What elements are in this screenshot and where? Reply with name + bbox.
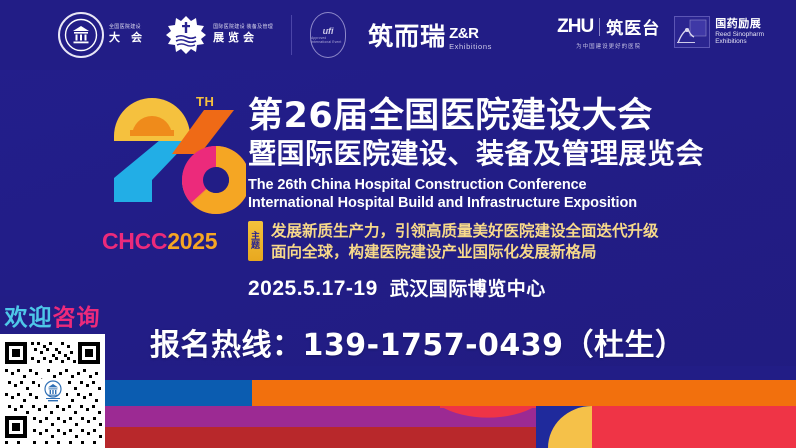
headline-block: 第26届全国医院建设大会 暨国际医院建设、装备及管理展览会 The 26th C… [248,98,708,301]
conference-emblem-text: 全国医院建设 大 会 [109,25,146,45]
zr-en-sub: Exhibitions [449,43,492,51]
qr-code-panel[interactable]: 欢迎咨询 [0,296,105,448]
zr-exhibitions-logo: 筑而瑞 Z&R Exhibitions [368,17,492,53]
partner-logos-left: 全国医院建设 大 会 国际医院建设 装备及管 [58,12,492,58]
headline-en-line1: The 26th China Hospital Construction Con… [248,176,708,194]
zr-chinese-name: 筑而瑞 [368,17,446,53]
event-venue: 武汉国际博览中心 [390,279,546,300]
anniversary-th-superscript: TH [196,94,214,109]
registration-hotline: 报名热线：139-1757-0439（杜生） [150,320,686,364]
poster-root: 全国医院建设 大 会 国际医院建设 装备及管 [0,0,796,448]
partner-logos-right: ZHU 筑医台 为中国建设更好的医院 [557,14,764,50]
ufi-title: ufi [323,26,334,36]
reed-text: 国药励展 Reed Sinopharm Exhibitions [715,18,764,46]
reed-chinese-name: 国药励展 [715,18,764,31]
ufi-logo: ufi Approved International Event [310,12,346,58]
reed-en-line1: Reed Sinopharm [715,31,764,38]
chcc-letters: CHCC [102,228,167,254]
anniversary-26-logo-icon [96,92,246,222]
qr-heading: 欢迎咨询 [0,296,105,334]
zhu-mark: ZHU [557,16,593,38]
reed-en-line2: Exhibitions [715,38,764,45]
conference-emblem-name: 大 会 [109,33,146,45]
reed-emblem-icon [674,16,710,48]
ufi-subtitle: Approved International Event [311,36,345,44]
headline-cn-line1: 第26届全国医院建设大会 [248,98,708,136]
logo-divider [291,15,292,55]
hospital-building-emblem-icon [58,12,104,58]
reed-sinopharm-logo: 国药励展 Reed Sinopharm Exhibitions [674,16,764,48]
event-date-venue: 2025.5.17-19武汉国际博览中心 [248,274,708,301]
theme-badge-char2: 题 [251,241,260,250]
conference-emblem-caption: 全国医院建设 [109,25,146,30]
qr-heading-part1: 欢迎 [5,305,53,331]
qr-code-image[interactable] [0,334,105,448]
theme-block: 主 题 发展新质生产力，引领高质量美好医院建设全面迭代升级 面向全球，构建医院建… [248,221,708,263]
zhu-chinese-name: 筑医台 [606,14,660,39]
zhuyitai-logo: ZHU 筑医台 为中国建设更好的医院 [557,14,660,50]
zhu-divider [599,18,600,36]
headline-en-line2: International Hospital Build and Infrast… [248,194,708,212]
decorative-color-bands [0,366,796,448]
event-date: 2025.5.17-19 [248,277,378,300]
headline-en-block: The 26th China Hospital Construction Con… [248,176,708,212]
theme-line1: 发展新质生产力，引领高质量美好医院建设全面迭代升级 [271,221,659,242]
conference-emblem-logo: 全国医院建设 大 会 [58,12,146,58]
qr-heading-part2: 咨询 [53,305,101,331]
headline-cn-line2: 暨国际医院建设、装备及管理展览会 [248,138,708,170]
exhibition-emblem-logo: 国际医院建设 装备及管理 展览会 [164,13,273,57]
partner-logo-bar: 全国医院建设 大 会 国际医院建设 装备及管 [0,0,796,70]
theme-line2: 面向全球，构建医院建设产业国际化发展新格局 [271,242,659,263]
exhibition-emblem-text: 国际医院建设 装备及管理 展览会 [213,25,273,45]
exhibition-emblem-name: 展览会 [213,33,273,45]
snowflake-cross-emblem-icon [164,13,208,57]
zhu-slogan: 为中国建设更好的医院 [576,42,641,50]
theme-badge: 主 题 [248,221,263,261]
theme-lines: 发展新质生产力，引领高质量美好医院建设全面迭代升级 面向全球，构建医院建设产业国… [271,221,659,263]
chcc-year: 2025 [167,228,217,254]
exhibition-emblem-caption: 国际医院建设 装备及管理 [213,25,273,30]
qr-center-emblem-icon [40,378,66,404]
zr-en-main: Z&R [449,26,492,41]
chcc-wordmark: CHCC2025 [102,228,217,255]
